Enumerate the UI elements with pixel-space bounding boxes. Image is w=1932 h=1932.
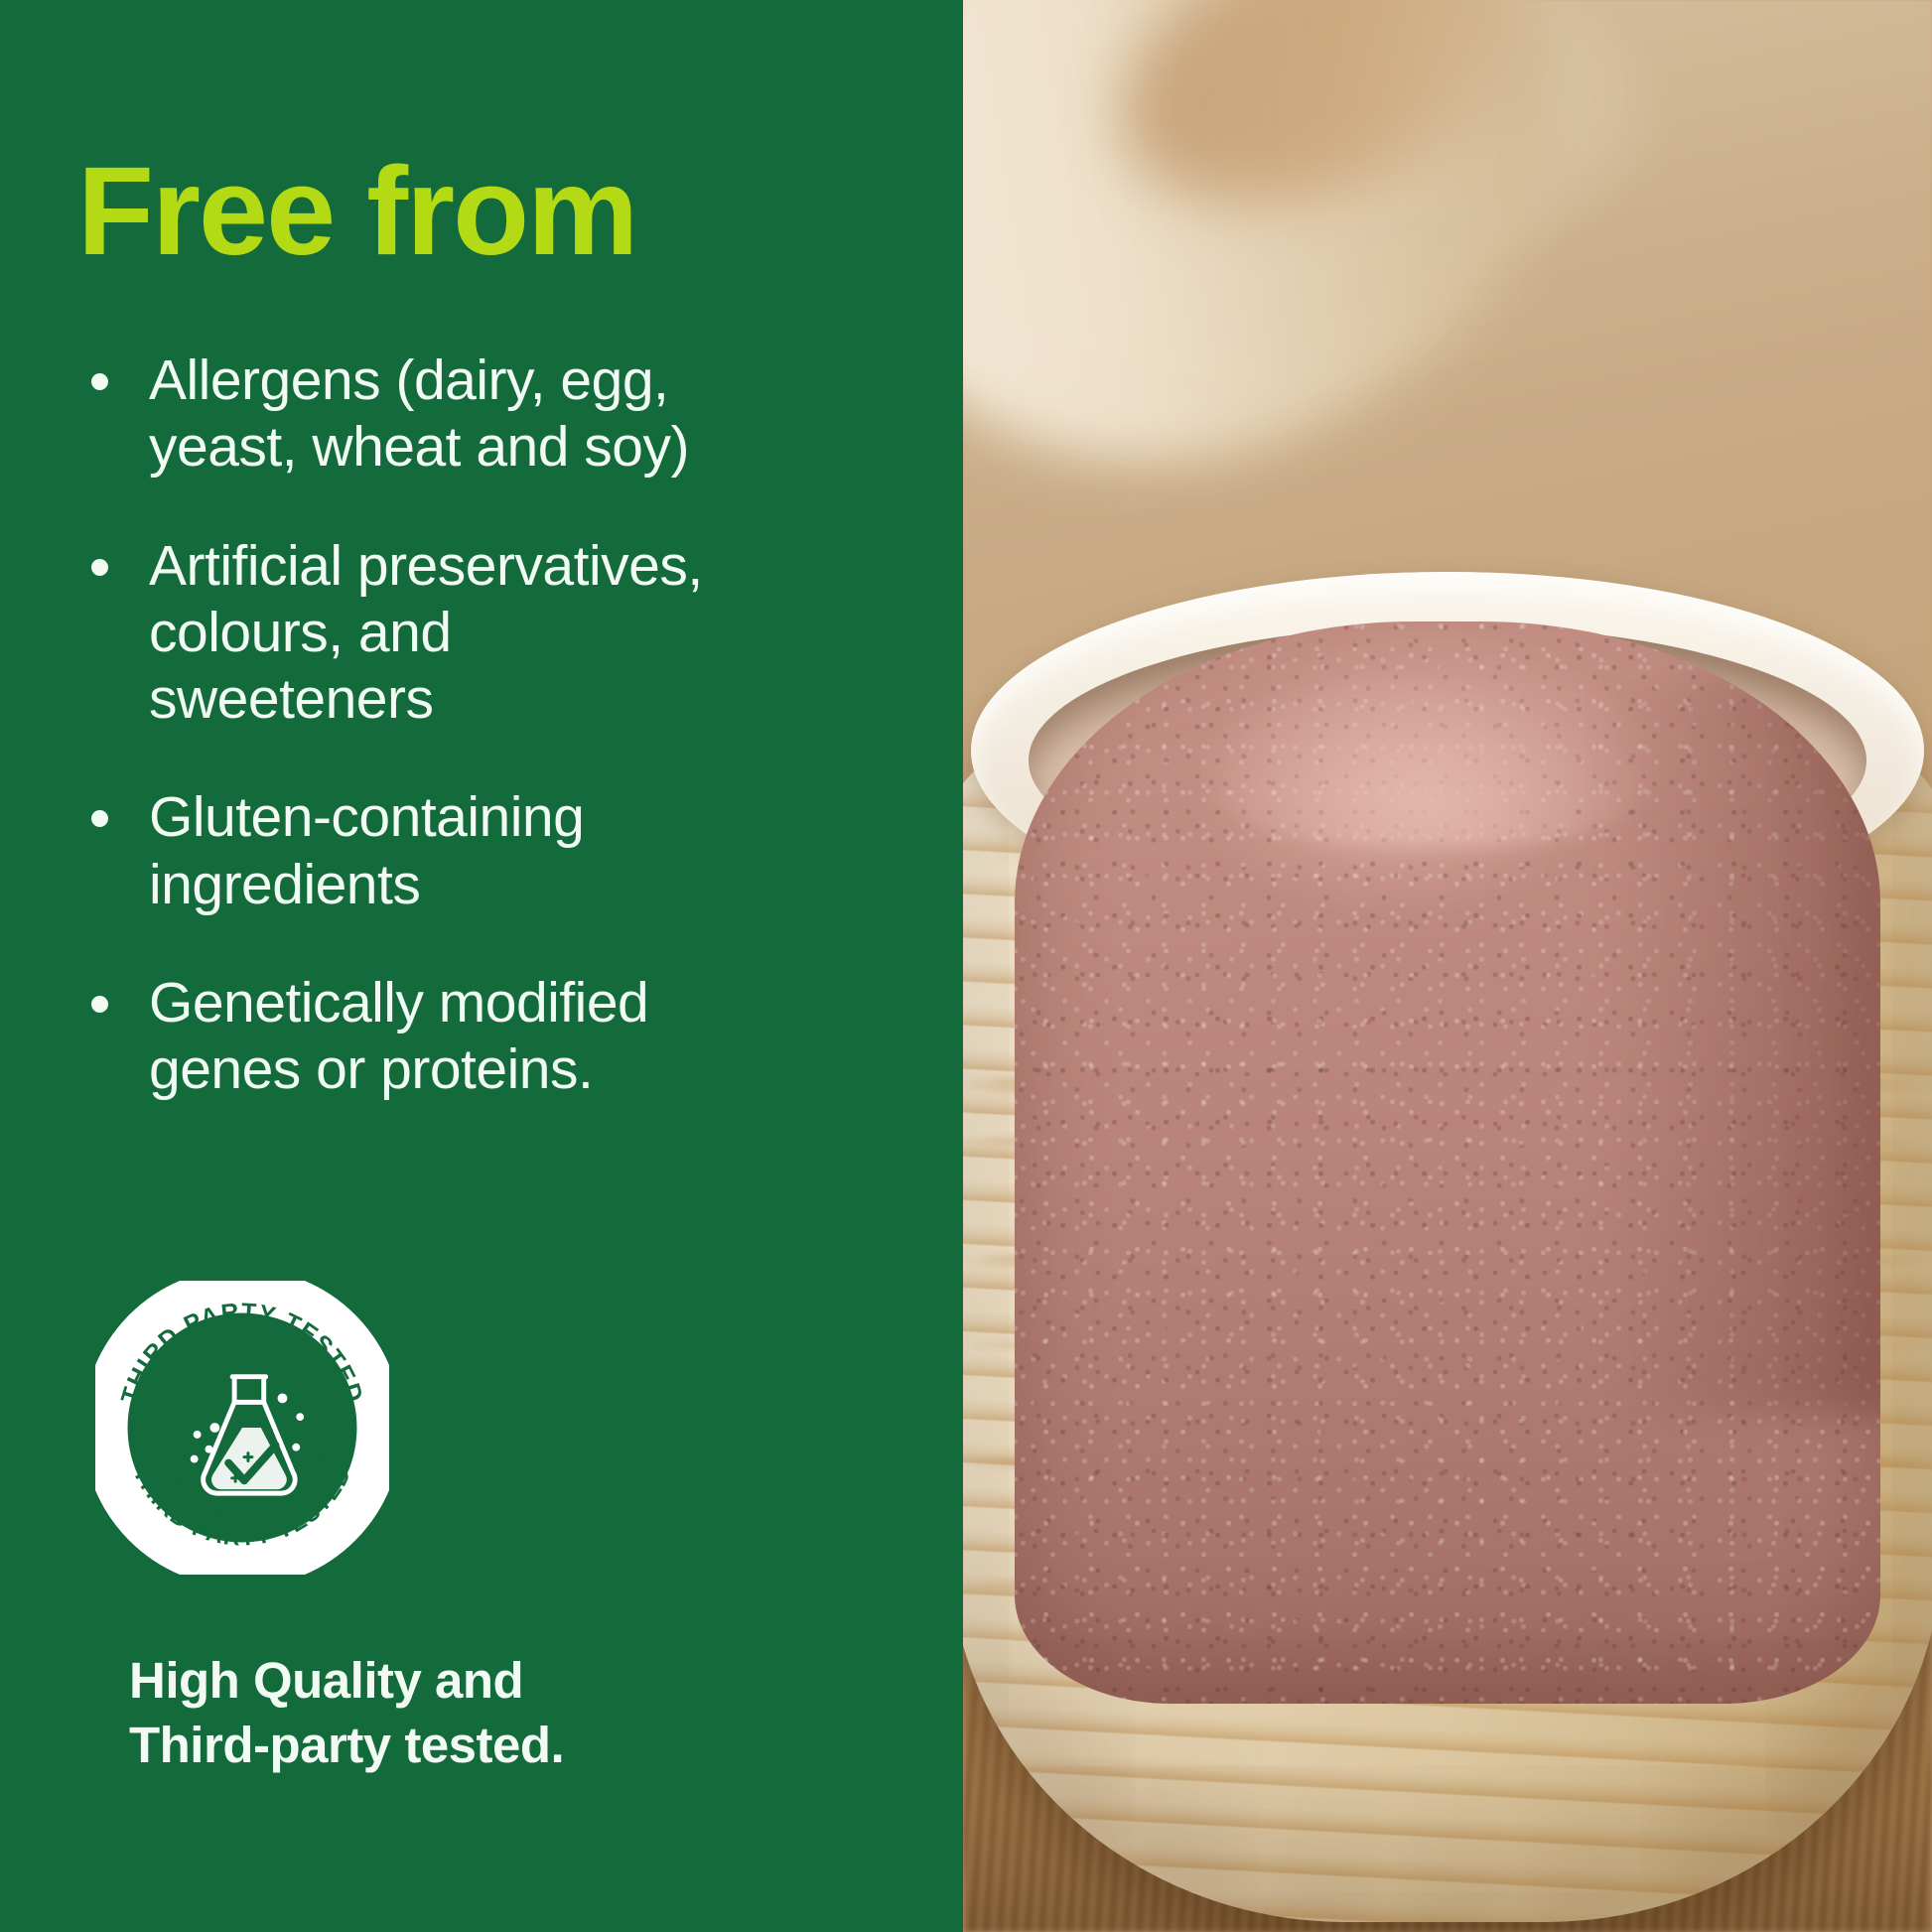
product-feature-panel: Free from Allergens (dairy, egg, yeast, … [0, 0, 1932, 1932]
tagline-line-1: High Quality and [129, 1648, 564, 1713]
powder-shadow [1602, 681, 1880, 1416]
list-item: Artificial preservatives, colours, and s… [77, 533, 733, 734]
list-item-label: Artificial preservatives, colours, and s… [149, 534, 703, 732]
page-title: Free from [77, 149, 963, 274]
free-from-list: Allergens (dairy, egg, yeast, wheat and … [77, 347, 963, 1103]
list-item: Gluten-containing ingredients [77, 784, 733, 918]
list-item: Allergens (dairy, egg, yeast, wheat and … [77, 347, 733, 482]
bullet-dot-icon [91, 810, 108, 827]
quality-tagline: High Quality and Third-party tested. [129, 1648, 564, 1778]
list-item-label: Gluten-containing ingredients [149, 785, 584, 915]
bullet-dot-icon [91, 559, 108, 576]
list-item-label: Genetically modified genes or proteins. [149, 971, 648, 1101]
tagline-line-2: Third-party tested. [129, 1713, 564, 1777]
product-photo: PROUDLY CANADIAN [963, 0, 1932, 1932]
bullet-dot-icon [91, 996, 108, 1013]
free-from-panel: Free from Allergens (dairy, egg, yeast, … [0, 0, 963, 1932]
ceramic-bowl [963, 552, 1932, 1932]
bullet-dot-icon [91, 373, 108, 390]
protein-powder [1015, 621, 1880, 1704]
third-party-tested-badge: THIRD PARTY TESTED THIRD PARTY TESTED TH… [95, 1281, 389, 1575]
list-item: Genetically modified genes or proteins. [77, 970, 733, 1104]
list-item-label: Allergens (dairy, egg, yeast, wheat and … [149, 348, 689, 479]
powder-highlight [1193, 629, 1670, 848]
